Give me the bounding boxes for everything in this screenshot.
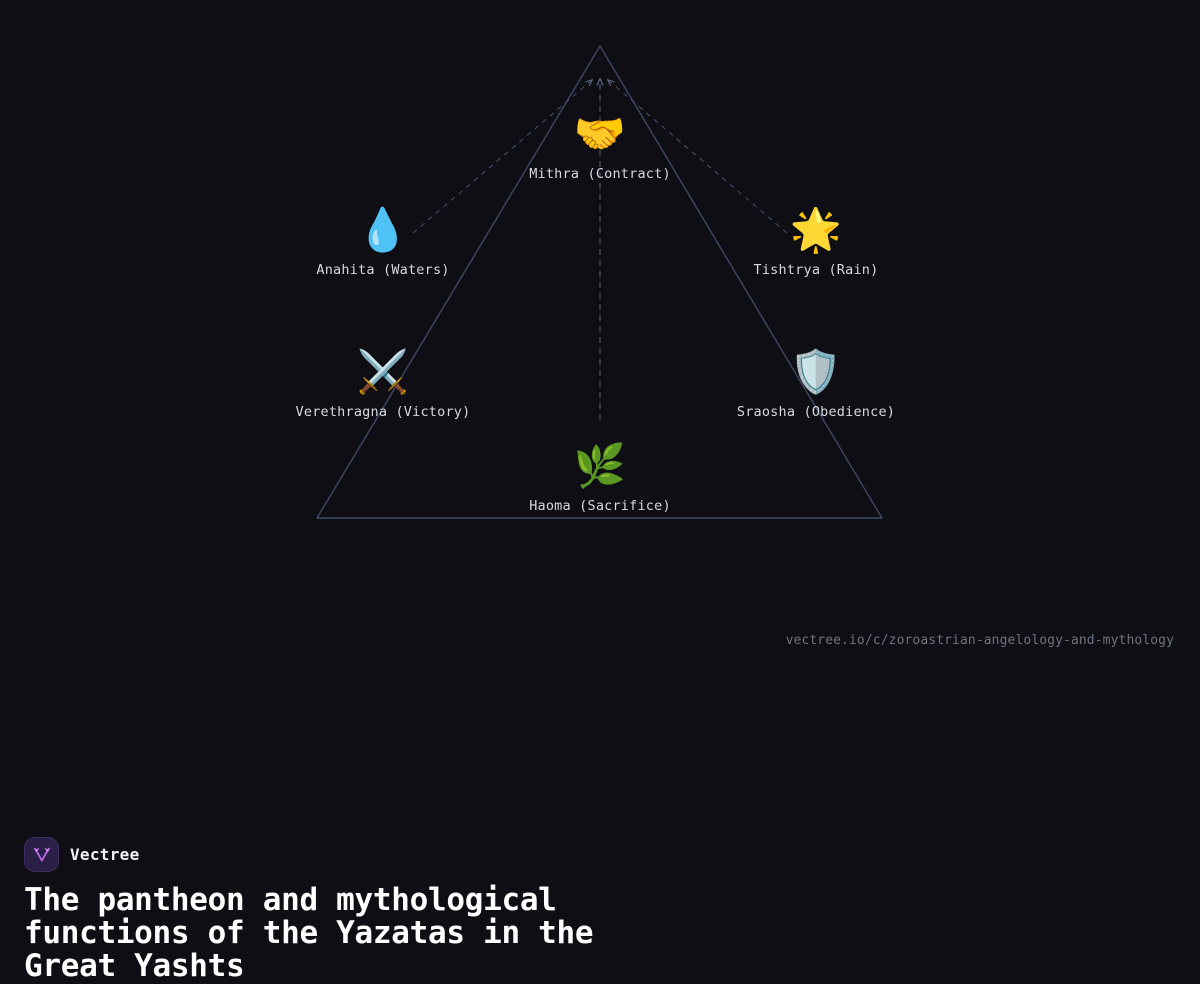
node-label-sraosha: Sraosha (Obedience) (737, 404, 895, 420)
brand-name: Vectree (70, 845, 140, 864)
handshake-icon: 🤝 (574, 110, 626, 158)
shield-icon: 🛡️ (790, 348, 842, 396)
node-mithra[interactable]: 🤝 Mithra (Contract) (470, 110, 730, 182)
glowing-star-icon: 🌟 (790, 206, 842, 254)
node-label-anahita: Anahita (Waters) (316, 262, 449, 278)
node-label-mithra: Mithra (Contract) (529, 166, 671, 182)
brand-lockup[interactable]: Vectree (24, 837, 140, 872)
node-verethragna[interactable]: ⚔️ Verethragna (Victory) (253, 348, 513, 420)
crossed-swords-icon: ⚔️ (357, 348, 409, 396)
node-sraosha[interactable]: 🛡️ Sraosha (Obedience) (686, 348, 946, 420)
herb-leaf-icon: 🌿 (574, 442, 626, 490)
source-url: vectree.io/c/zoroastrian-angelology-and-… (786, 633, 1174, 648)
page-title: The pantheon and mythological functions … (24, 884, 744, 983)
node-tishtrya[interactable]: 🌟 Tishtrya (Rain) (686, 206, 946, 278)
water-droplet-icon: 💧 (357, 206, 409, 254)
footer: Vectree The pantheon and mythological fu… (0, 500, 1200, 675)
node-anahita[interactable]: 💧 Anahita (Waters) (253, 206, 513, 278)
vectree-logo-icon (24, 837, 59, 872)
slide-canvas: 🤝 Mithra (Contract) 💧 Anahita (Waters) 🌟… (0, 0, 1200, 675)
node-label-tishtrya: Tishtrya (Rain) (754, 262, 879, 278)
node-label-verethragna: Verethragna (Victory) (296, 404, 471, 420)
